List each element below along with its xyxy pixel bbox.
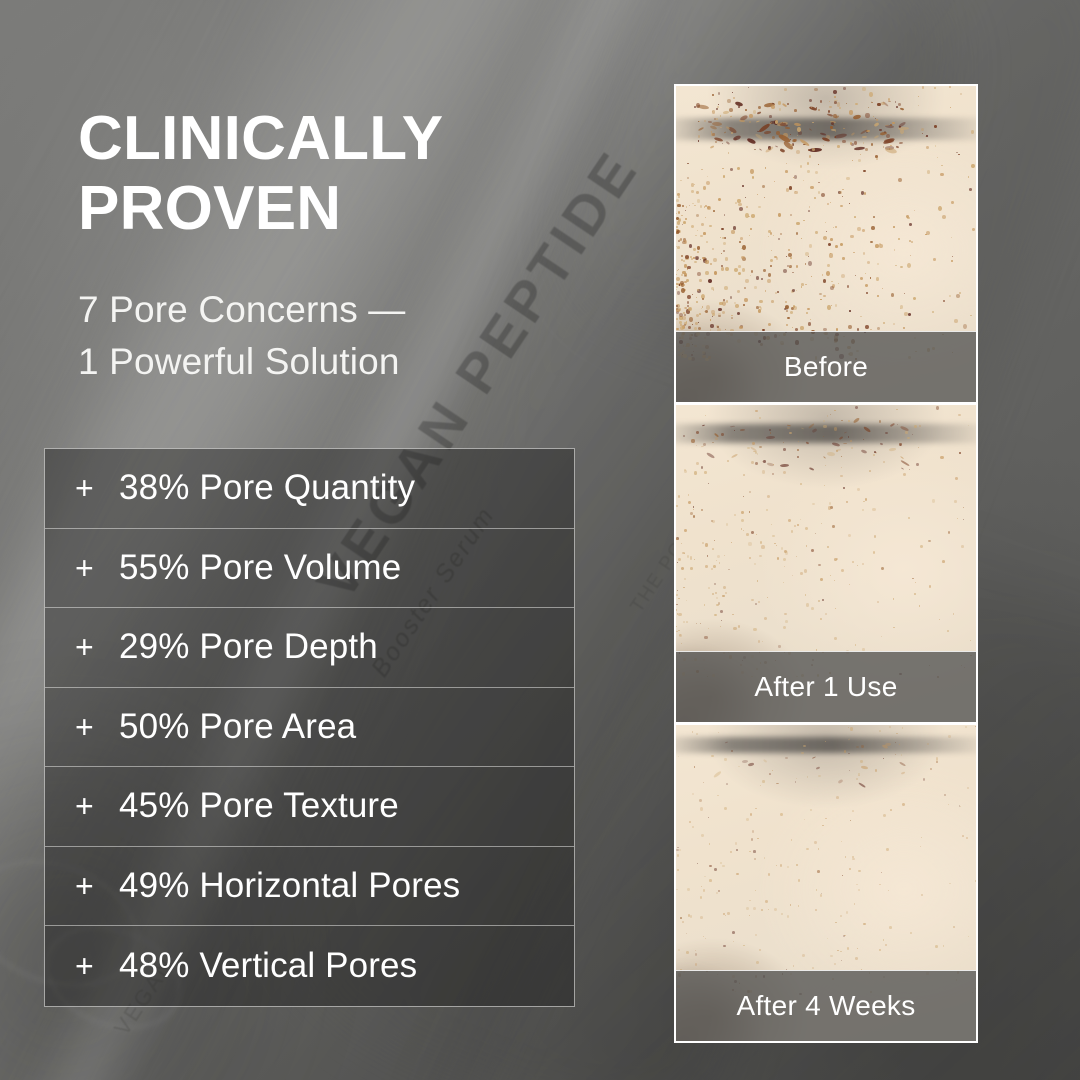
pore-dot <box>683 435 685 437</box>
pore-dot <box>751 838 754 841</box>
pore-dot <box>703 186 707 190</box>
pore-dot <box>766 509 768 511</box>
stat-label: 50% Pore Area <box>119 707 356 747</box>
pore-dot <box>951 201 954 205</box>
pore-dot <box>861 449 867 454</box>
pore-dot <box>942 560 945 563</box>
pore-dot <box>685 255 689 259</box>
pore-dot <box>771 524 772 525</box>
pore-dot <box>748 87 749 88</box>
pore-dot <box>900 108 904 111</box>
pore-dot <box>717 106 719 108</box>
pore-dot <box>725 592 727 594</box>
pore-dot <box>821 893 822 894</box>
pore-dot <box>884 146 897 154</box>
pore-dot <box>725 257 729 260</box>
pore-dot <box>696 462 699 465</box>
pore-dot <box>873 116 874 117</box>
pore-dot <box>929 585 931 587</box>
pore-dot <box>679 321 682 324</box>
pore-dot <box>833 114 837 118</box>
pore-dot <box>688 494 690 496</box>
stat-value: 29% <box>119 627 189 666</box>
pore-dot <box>950 107 951 108</box>
pore-dot <box>700 235 702 237</box>
pore-dot <box>933 258 936 261</box>
pore-dot <box>944 794 946 796</box>
pore-dot <box>786 163 787 164</box>
pore-dot <box>753 907 755 910</box>
pore-dot <box>830 202 831 203</box>
pore-dot <box>683 621 685 623</box>
pore-dot <box>732 92 733 93</box>
stat-name: Pore Area <box>199 707 356 746</box>
pore-dot <box>687 177 689 179</box>
pore-dot <box>855 275 856 276</box>
pore-dot <box>705 452 715 460</box>
pore-dot <box>776 545 777 546</box>
pore-dot <box>740 237 743 240</box>
pore-dot <box>783 269 787 273</box>
pore-dot <box>749 114 753 118</box>
pore-dot <box>679 849 681 851</box>
pore-dot <box>816 767 821 771</box>
pore-dot <box>808 322 811 325</box>
pore-dot <box>853 114 862 120</box>
pore-dot <box>785 301 787 303</box>
pore-dot <box>679 239 681 241</box>
pore-dot <box>716 118 719 120</box>
photo-caption: After 4 Weeks <box>676 970 976 1041</box>
pore-dot <box>890 809 892 811</box>
pore-dot <box>975 880 976 881</box>
pore-dot <box>909 223 912 226</box>
pore-dot <box>725 742 728 744</box>
stat-label: 48% Vertical Pores <box>119 946 417 986</box>
pore-dot <box>677 854 679 857</box>
pore-dot <box>783 442 784 443</box>
pore-dot <box>860 316 862 318</box>
stat-value: 55% <box>119 548 189 587</box>
pore-dot <box>848 727 849 728</box>
pore-dot <box>870 241 873 244</box>
pore-dot <box>775 146 779 148</box>
pore-dot <box>720 862 722 864</box>
pore-dot <box>863 923 866 926</box>
pore-dot <box>834 637 837 640</box>
stat-row: + 49% Horizontal Pores <box>45 847 574 927</box>
pore-dot <box>895 101 897 103</box>
pore-dot <box>757 112 761 115</box>
pore-dot <box>939 619 940 620</box>
pore-dot <box>947 630 949 632</box>
pore-dot <box>699 279 702 282</box>
stat-label: 38% Pore Quantity <box>119 468 415 508</box>
pore-dot <box>914 210 915 211</box>
pore-dot <box>731 750 733 752</box>
pore-dot <box>866 292 868 294</box>
pore-dot <box>787 317 790 319</box>
pore-dot <box>677 869 680 872</box>
pore-dot <box>711 568 714 571</box>
pore-dot <box>834 427 837 430</box>
pore-dot <box>849 310 851 312</box>
pore-dot <box>786 256 788 257</box>
pore-dot <box>763 759 768 764</box>
pore-dot <box>905 431 908 434</box>
pore-dot <box>749 491 751 493</box>
pore-dot <box>718 315 721 317</box>
pore-dot <box>695 963 697 965</box>
pore-dot <box>927 743 929 744</box>
pore-dot <box>809 467 815 471</box>
pore-dot <box>840 205 843 207</box>
pore-dot <box>952 256 953 257</box>
pore-dot <box>822 599 823 600</box>
stat-label: 45% Pore Texture <box>119 786 399 826</box>
pore-dot <box>807 162 809 164</box>
pore-dot <box>688 307 692 311</box>
pore-dot <box>805 527 808 530</box>
pore-dot <box>840 243 843 246</box>
pore-dot <box>846 911 848 913</box>
pore-dot <box>801 238 802 239</box>
pore-dot <box>739 120 745 123</box>
pore-dot <box>692 793 694 795</box>
pore-dot <box>689 317 693 321</box>
pore-dot <box>790 257 793 259</box>
pore-dot <box>789 265 791 268</box>
pore-dot <box>707 176 708 177</box>
pore-dot <box>751 214 755 218</box>
pore-dot <box>767 279 771 284</box>
pore-dot <box>970 640 972 642</box>
pore-dot <box>715 437 718 440</box>
pore-dot <box>686 206 688 208</box>
pore-dot <box>731 454 738 459</box>
pore-dot <box>731 317 733 319</box>
pore-dot <box>957 518 958 519</box>
pore-dot <box>856 884 858 885</box>
pore-dot <box>784 566 785 567</box>
pore-dot <box>844 750 846 753</box>
pore-dot <box>733 941 734 942</box>
stat-row: + 45% Pore Texture <box>45 767 574 847</box>
pore-dot <box>706 305 710 309</box>
pore-dot <box>851 447 853 449</box>
pore-dot <box>681 255 683 258</box>
pore-dot <box>677 246 680 249</box>
pore-dot <box>763 130 771 134</box>
pore-dot <box>779 108 781 111</box>
pore-dot <box>776 783 779 784</box>
pore-dot <box>704 636 707 639</box>
pore-dot <box>877 601 879 603</box>
pore-dot <box>696 733 699 736</box>
pore-dot <box>966 837 968 839</box>
plus-icon: + <box>75 950 119 982</box>
pore-dot <box>873 454 875 456</box>
pore-dot <box>808 210 810 212</box>
pore-dot <box>928 540 931 543</box>
pore-dot <box>805 284 807 286</box>
pore-dot <box>676 226 677 228</box>
pore-dot <box>835 226 837 228</box>
pore-dot <box>681 288 685 292</box>
pore-dot <box>738 272 741 275</box>
pore-dot <box>835 245 837 248</box>
pore-dot <box>770 265 772 268</box>
pore-dot <box>851 132 855 136</box>
pore-dot <box>677 291 680 294</box>
pore-dot <box>785 170 788 173</box>
pore-dot <box>963 507 964 508</box>
pore-dot <box>825 741 826 742</box>
pore-dot <box>954 500 957 503</box>
pore-dot <box>776 865 777 866</box>
pore-dot <box>762 780 765 782</box>
pore-dot <box>809 128 812 130</box>
photo-caption: Before <box>676 331 976 402</box>
pore-dot <box>678 219 681 222</box>
pore-dot <box>823 420 825 422</box>
pore-dot <box>857 227 861 231</box>
stat-row: + 38% Pore Quantity <box>45 449 574 529</box>
pore-dot <box>769 115 772 118</box>
pore-dot <box>705 260 708 263</box>
pore-dot <box>712 248 714 250</box>
pore-dot <box>718 104 719 105</box>
pore-dot <box>894 249 895 251</box>
pore-dot <box>691 225 694 228</box>
pore-dot <box>809 148 822 153</box>
pore-dot <box>948 531 951 534</box>
pore-dot <box>909 469 910 470</box>
pore-dot <box>856 778 858 781</box>
pore-dot <box>889 726 891 728</box>
pore-dot <box>796 232 798 234</box>
pore-dot <box>812 757 816 760</box>
pore-dot <box>722 168 724 169</box>
pore-dot <box>700 807 703 811</box>
pore-dot <box>806 545 807 546</box>
pore-dot <box>943 945 944 946</box>
pore-dot <box>741 256 745 259</box>
pore-dot <box>810 319 811 320</box>
pore-dot <box>692 324 693 325</box>
pore-dot <box>684 529 687 532</box>
pore-dot <box>725 267 729 271</box>
pore-dot <box>742 245 746 250</box>
pore-dot <box>852 858 855 861</box>
pore-dot <box>841 569 844 572</box>
pore-dot <box>794 109 797 112</box>
pore-dot <box>895 742 896 743</box>
pore-dot <box>791 530 793 532</box>
pore-dot <box>735 202 737 204</box>
pore-dot <box>705 415 706 416</box>
pore-dot <box>742 760 748 763</box>
pore-dot <box>819 293 822 296</box>
pore-dot <box>690 556 693 559</box>
pore-dot <box>695 235 697 237</box>
pore-dot <box>697 272 701 276</box>
pore-dot <box>873 216 875 218</box>
stat-row: + 29% Pore Depth <box>45 608 574 688</box>
pore-dot <box>716 892 718 895</box>
pore-dot <box>730 851 732 853</box>
pore-dot <box>767 462 775 467</box>
pore-dot <box>722 237 724 240</box>
pore-dot <box>811 607 814 610</box>
pore-dot <box>759 417 760 418</box>
pore-dot <box>949 86 952 88</box>
pore-dot <box>751 531 754 534</box>
pore-dot <box>755 133 763 140</box>
pore-dot <box>709 843 711 845</box>
pore-dot <box>676 277 680 281</box>
pore-dot <box>811 549 814 552</box>
pore-dot <box>694 766 695 767</box>
pore-dot <box>889 448 897 452</box>
pore-dot <box>784 613 787 615</box>
pore-dot <box>712 520 715 523</box>
pore-dot <box>771 250 773 252</box>
pore-dot <box>865 498 868 501</box>
pore-dot <box>865 273 866 274</box>
pore-dot <box>687 301 689 303</box>
pore-dot <box>845 856 846 857</box>
pore-dot <box>747 762 754 766</box>
pore-dot <box>825 465 826 466</box>
stat-value: 45% <box>119 786 189 825</box>
pore-dot <box>684 470 687 473</box>
pore-dot <box>777 557 779 559</box>
pore-dot <box>834 580 835 581</box>
pore-dot <box>877 327 880 330</box>
pore-dot <box>679 634 682 637</box>
pore-dot <box>840 475 842 477</box>
pore-dot <box>696 191 699 194</box>
pore-dot <box>892 122 894 124</box>
pore-dot <box>717 555 720 558</box>
pore-dot <box>750 169 754 173</box>
pore-dot <box>765 900 768 903</box>
pore-dot <box>832 442 841 447</box>
pore-dot <box>914 593 916 595</box>
pore-dot <box>837 102 841 106</box>
pore-dot <box>834 963 836 965</box>
pore-dot <box>783 582 784 583</box>
pore-dot <box>796 222 799 225</box>
pore-dot <box>715 592 717 593</box>
pore-dot <box>728 152 729 154</box>
pore-dot <box>879 129 881 131</box>
pore-dot <box>955 477 958 480</box>
pore-dot <box>848 436 850 438</box>
pore-dot <box>717 326 719 328</box>
pore-dot <box>706 241 709 243</box>
pore-dot <box>710 324 713 328</box>
pore-dot <box>764 857 766 858</box>
pore-dot <box>704 120 706 123</box>
pore-dot <box>770 432 771 433</box>
pore-dot <box>755 603 758 606</box>
pore-dot <box>784 88 787 91</box>
pore-dot <box>831 281 832 282</box>
pore-dot <box>885 432 888 434</box>
pore-dot <box>880 443 883 445</box>
pore-dot <box>692 731 693 732</box>
pore-dot <box>755 410 757 412</box>
pore-dot <box>701 425 704 427</box>
stat-value: 49% <box>119 866 189 905</box>
pore-dot <box>949 883 951 885</box>
pore-dot <box>850 235 854 239</box>
pore-dot <box>799 138 810 147</box>
pore-dot <box>709 225 711 228</box>
pore-dot <box>801 428 804 430</box>
pore-dot <box>812 967 814 969</box>
pore-dot <box>724 214 726 215</box>
pore-dot <box>684 275 687 278</box>
pore-dot <box>852 810 854 812</box>
pore-dot <box>778 645 781 647</box>
pore-dot <box>694 559 695 560</box>
pore-dot <box>876 158 878 160</box>
pore-dot <box>918 96 919 97</box>
pore-dot <box>676 505 678 507</box>
pore-dot <box>935 945 938 948</box>
pore-dot <box>893 627 894 628</box>
pore-dot <box>742 185 744 187</box>
pore-dot <box>823 425 826 428</box>
plus-icon: + <box>75 870 119 902</box>
pore-dot <box>676 213 677 214</box>
pore-dot <box>768 236 769 237</box>
pore-dot <box>708 628 709 629</box>
pore-dot <box>792 272 794 274</box>
pore-dot <box>690 567 693 570</box>
pore-dot <box>781 913 783 915</box>
pore-dot <box>749 900 750 901</box>
pore-dot <box>883 461 886 463</box>
pore-dot <box>820 100 822 103</box>
pore-dot <box>696 297 697 298</box>
pore-dot <box>823 236 827 240</box>
stat-row: + 48% Vertical Pores <box>45 926 574 1006</box>
pore-dot <box>954 319 957 323</box>
pore-dot <box>803 180 804 181</box>
pore-dot <box>820 578 823 581</box>
pore-dot <box>806 312 808 314</box>
pore-dot <box>818 109 820 111</box>
pore-dot <box>701 308 702 309</box>
pore-dot <box>815 909 817 911</box>
pore-dot <box>701 886 702 887</box>
pore-dot <box>724 807 727 810</box>
pore-dot <box>751 599 754 601</box>
pore-dot <box>824 485 825 486</box>
pore-dot <box>862 87 865 91</box>
pore-dot <box>902 727 903 729</box>
pore-dot <box>757 194 758 195</box>
pore-dot <box>914 425 917 429</box>
pore-dot <box>800 165 803 168</box>
pore-dot <box>968 425 969 426</box>
pore-dot <box>900 460 910 467</box>
pore-dot <box>865 284 868 287</box>
